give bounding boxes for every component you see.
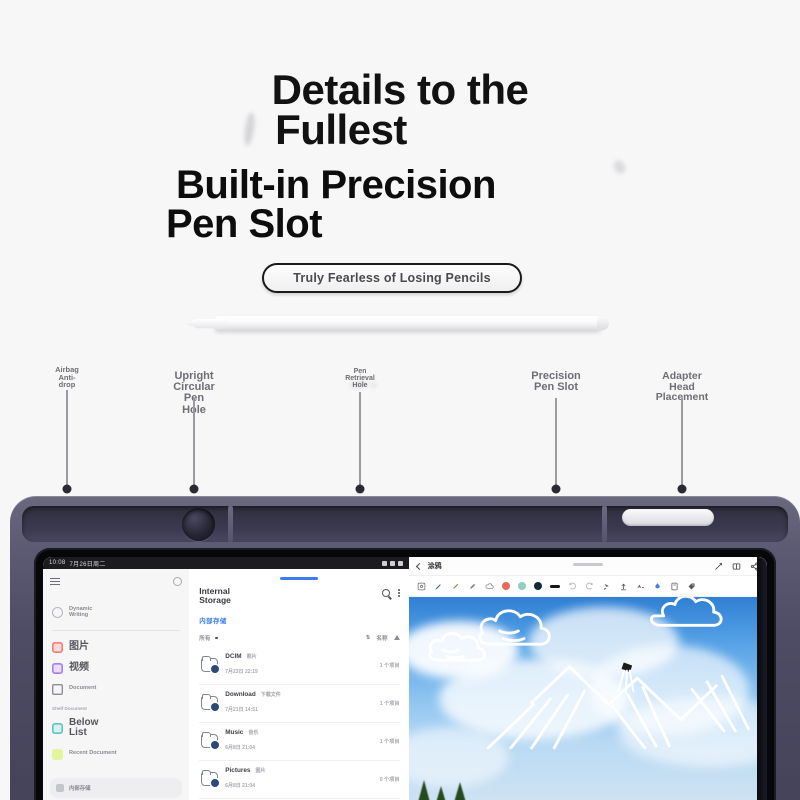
file-date: 6月8日 21:04 xyxy=(225,745,255,751)
file-count: 1 个项目 xyxy=(380,700,400,707)
folder-icon xyxy=(201,658,218,672)
more-options-icon[interactable] xyxy=(398,589,400,597)
insert-icon[interactable] xyxy=(619,582,628,591)
file-list-item[interactable]: DCIM照片7月23日 22:191 个项目 xyxy=(199,647,399,685)
list-toolbar: 所有 ⇅ 名称 xyxy=(199,634,399,642)
eraser-icon[interactable] xyxy=(468,582,477,591)
file-manager-sidebar: Dynamic Writing 图片 视频 xyxy=(43,569,189,800)
callout-label: Precision Pen Slot xyxy=(531,371,581,393)
sidebar-item-label: 图片 xyxy=(69,642,89,653)
header-actions xyxy=(382,587,400,597)
file-info: Music音乐6月8日 21:04 xyxy=(225,729,372,754)
sidebar-section-caption: Shelf Document xyxy=(52,706,180,711)
callout-label: Airbag Anti-drop xyxy=(55,366,79,389)
color-swatch-mint[interactable] xyxy=(518,582,526,590)
folder-icon xyxy=(201,696,218,710)
sidebar-item-below-list[interactable]: Below List xyxy=(50,713,182,744)
tablet-bezel: 10:08 7月26日周二 xyxy=(34,548,776,800)
page-title-secondary: Built-in Precision Pen Slot xyxy=(176,166,800,244)
file-count: 1 个项目 xyxy=(380,662,400,669)
tagline-badge-label: Truly Fearless of Losing Pencils xyxy=(293,271,490,285)
sort-ascending-icon xyxy=(394,635,400,640)
wifi-icon xyxy=(382,561,387,566)
callout-dot xyxy=(356,485,365,494)
page-title-primary-line1: Details to the xyxy=(0,70,800,110)
notes-toolbar-top: 涂鸦 xyxy=(409,557,767,576)
breadcrumb[interactable]: 内部存储 xyxy=(199,615,399,625)
drag-handle[interactable] xyxy=(573,563,603,566)
file-manager-content: Internal Storage 内部存储 所有 xyxy=(189,569,408,800)
fill-icon[interactable] xyxy=(653,582,662,591)
file-list-item[interactable]: Pictures图片6月8日 21:040 个项目 xyxy=(199,761,399,799)
sidebar-item-label: Below List xyxy=(69,718,98,739)
file-name: Download下载文件 xyxy=(225,691,372,698)
battery-icon xyxy=(398,561,403,566)
slot-divider xyxy=(602,506,607,542)
callout-dot xyxy=(63,485,72,494)
file-count: 0 个项目 xyxy=(380,776,400,783)
file-date: 7月21日 14:51 xyxy=(225,707,258,713)
sidebar-header xyxy=(50,577,182,586)
sidebar-item-images[interactable]: 图片 xyxy=(50,637,182,658)
file-date: 7月23日 22:19 xyxy=(225,669,258,675)
file-count: 1 个项目 xyxy=(380,738,400,745)
stylus-tip xyxy=(185,319,227,329)
lasso-icon[interactable] xyxy=(602,582,611,591)
file-info: DCIM照片7月23日 22:19 xyxy=(225,653,372,678)
callout-dot xyxy=(678,485,687,494)
file-tag: 音乐 xyxy=(248,729,258,736)
file-manager-body: Dynamic Writing 图片 视频 xyxy=(43,569,409,800)
page-title-secondary-line2: Pen Slot xyxy=(166,205,800,244)
stroke-width-icon[interactable] xyxy=(550,585,560,588)
tag-icon[interactable] xyxy=(687,582,696,591)
folder-icon xyxy=(201,734,218,748)
file-info: Pictures图片6月8日 21:04 xyxy=(225,767,372,792)
storage-icon xyxy=(56,784,64,792)
sort-control[interactable]: ⇅ 名称 xyxy=(366,634,400,642)
sort-icon: ⇅ xyxy=(366,635,371,641)
notes-top-actions xyxy=(714,562,759,571)
status-bar-icons xyxy=(382,561,403,566)
expand-icon[interactable] xyxy=(714,562,723,571)
sidebar-item-dynamic-writing[interactable]: Dynamic Writing xyxy=(50,602,182,624)
callout-line xyxy=(359,392,361,489)
list-icon xyxy=(52,723,63,734)
sidebar-item-label: Dynamic Writing xyxy=(69,607,92,619)
drag-handle[interactable] xyxy=(280,577,318,580)
file-name: Pictures图片 xyxy=(225,767,372,774)
video-icon xyxy=(52,663,63,674)
sort-label: 名称 xyxy=(376,634,387,642)
file-list-item[interactable]: Download下载文件7月21日 14:511 个项目 xyxy=(199,685,399,723)
color-swatch-red[interactable] xyxy=(502,582,510,590)
text-icon[interactable] xyxy=(636,582,645,591)
screen-edge-shadow xyxy=(757,557,767,800)
undo-icon[interactable] xyxy=(568,582,577,591)
gear-icon[interactable] xyxy=(173,577,182,586)
dot-indicator xyxy=(215,637,218,640)
notes-toolbar-tools xyxy=(409,576,767,597)
callout-line xyxy=(193,398,195,489)
divider xyxy=(52,630,180,631)
sidebar-item-label: Recent Document xyxy=(69,751,117,757)
page-title-primary-line2: Fullest xyxy=(0,110,800,150)
file-list: DCIM照片7月23日 22:191 个项目Download下载文件7月21日 … xyxy=(199,647,399,799)
status-bar: 10:08 7月26日周二 xyxy=(43,557,409,569)
file-tag: 图片 xyxy=(255,767,265,774)
slot-divider xyxy=(228,506,233,542)
split-view-icon[interactable] xyxy=(732,562,741,571)
tablet-case: 10:08 7月26日周二 xyxy=(10,496,800,800)
sidebar-item-videos[interactable]: 视频 xyxy=(50,658,182,679)
tablet-screen: 10:08 7月26日周二 xyxy=(43,557,767,800)
callout-dot xyxy=(190,485,199,494)
signal-icon xyxy=(390,561,395,566)
filter-label[interactable]: 所有 xyxy=(199,634,218,642)
clock-icon xyxy=(52,607,63,618)
file-name: Music音乐 xyxy=(225,729,372,736)
callout-line xyxy=(555,398,557,489)
adapter-head-notch xyxy=(622,509,714,526)
stylus-body xyxy=(215,316,603,331)
pen-icon[interactable] xyxy=(434,582,443,591)
hamburger-icon[interactable] xyxy=(50,578,60,586)
page-title-primary: Details to the Fullest xyxy=(0,70,800,150)
callout-label: Pen Retrieval Hole xyxy=(345,368,375,389)
callout-line xyxy=(66,390,68,489)
file-tag: 下载文件 xyxy=(261,691,281,698)
file-tag: 照片 xyxy=(247,653,257,660)
redo-icon[interactable] xyxy=(585,582,594,591)
circular-pen-hole xyxy=(182,508,215,541)
status-bar-date: 7月26日周二 xyxy=(70,559,106,568)
recent-icon xyxy=(52,749,63,760)
tagline-badge: Truly Fearless of Losing Pencils xyxy=(262,263,522,293)
highlighter-icon[interactable] xyxy=(451,582,460,591)
color-swatch-navy[interactable] xyxy=(534,582,542,590)
callout-line xyxy=(681,398,683,489)
shape-cloud-icon[interactable] xyxy=(485,582,494,591)
stylus-illustration xyxy=(185,316,603,331)
file-info: Download下载文件7月21日 14:51 xyxy=(225,691,372,716)
filter-text: 所有 xyxy=(199,634,210,642)
sidebar-item-document[interactable]: Document xyxy=(50,679,182,700)
sidebar-storage-button[interactable]: 内部存储 xyxy=(50,778,182,798)
sidebar-storage-label: 内部存储 xyxy=(69,784,91,792)
search-icon[interactable] xyxy=(382,589,390,597)
layers-icon[interactable] xyxy=(670,582,679,591)
tablet-device: 10:08 7月26日周二 xyxy=(10,496,800,800)
select-icon[interactable] xyxy=(417,582,426,591)
image-icon xyxy=(52,642,63,653)
sidebar-item-label: 视频 xyxy=(69,663,89,674)
file-name: DCIM照片 xyxy=(225,653,372,660)
sidebar-item-label: Document xyxy=(69,686,96,692)
file-date: 6月8日 21:04 xyxy=(225,783,255,789)
file-list-item[interactable]: Music音乐6月8日 21:041 个项目 xyxy=(199,723,399,761)
callout-dot xyxy=(552,485,561,494)
status-bar-time: 10:08 xyxy=(49,560,66,566)
sidebar-item-recent-document[interactable]: Recent Document xyxy=(50,744,182,765)
file-manager-app: 10:08 7月26日周二 xyxy=(43,557,409,800)
page-title: Internal Storage xyxy=(199,587,231,605)
hand-drawn-doodles xyxy=(409,597,767,786)
notes-title: 涂鸦 xyxy=(428,561,442,571)
content-header: Internal Storage xyxy=(199,587,399,605)
page-title-secondary-line1: Built-in Precision xyxy=(176,166,800,205)
drawing-canvas[interactable] xyxy=(409,597,767,800)
document-icon xyxy=(52,684,63,695)
notes-app: 涂鸦 xyxy=(409,557,767,800)
back-icon[interactable] xyxy=(416,562,423,569)
folder-icon xyxy=(201,772,218,786)
